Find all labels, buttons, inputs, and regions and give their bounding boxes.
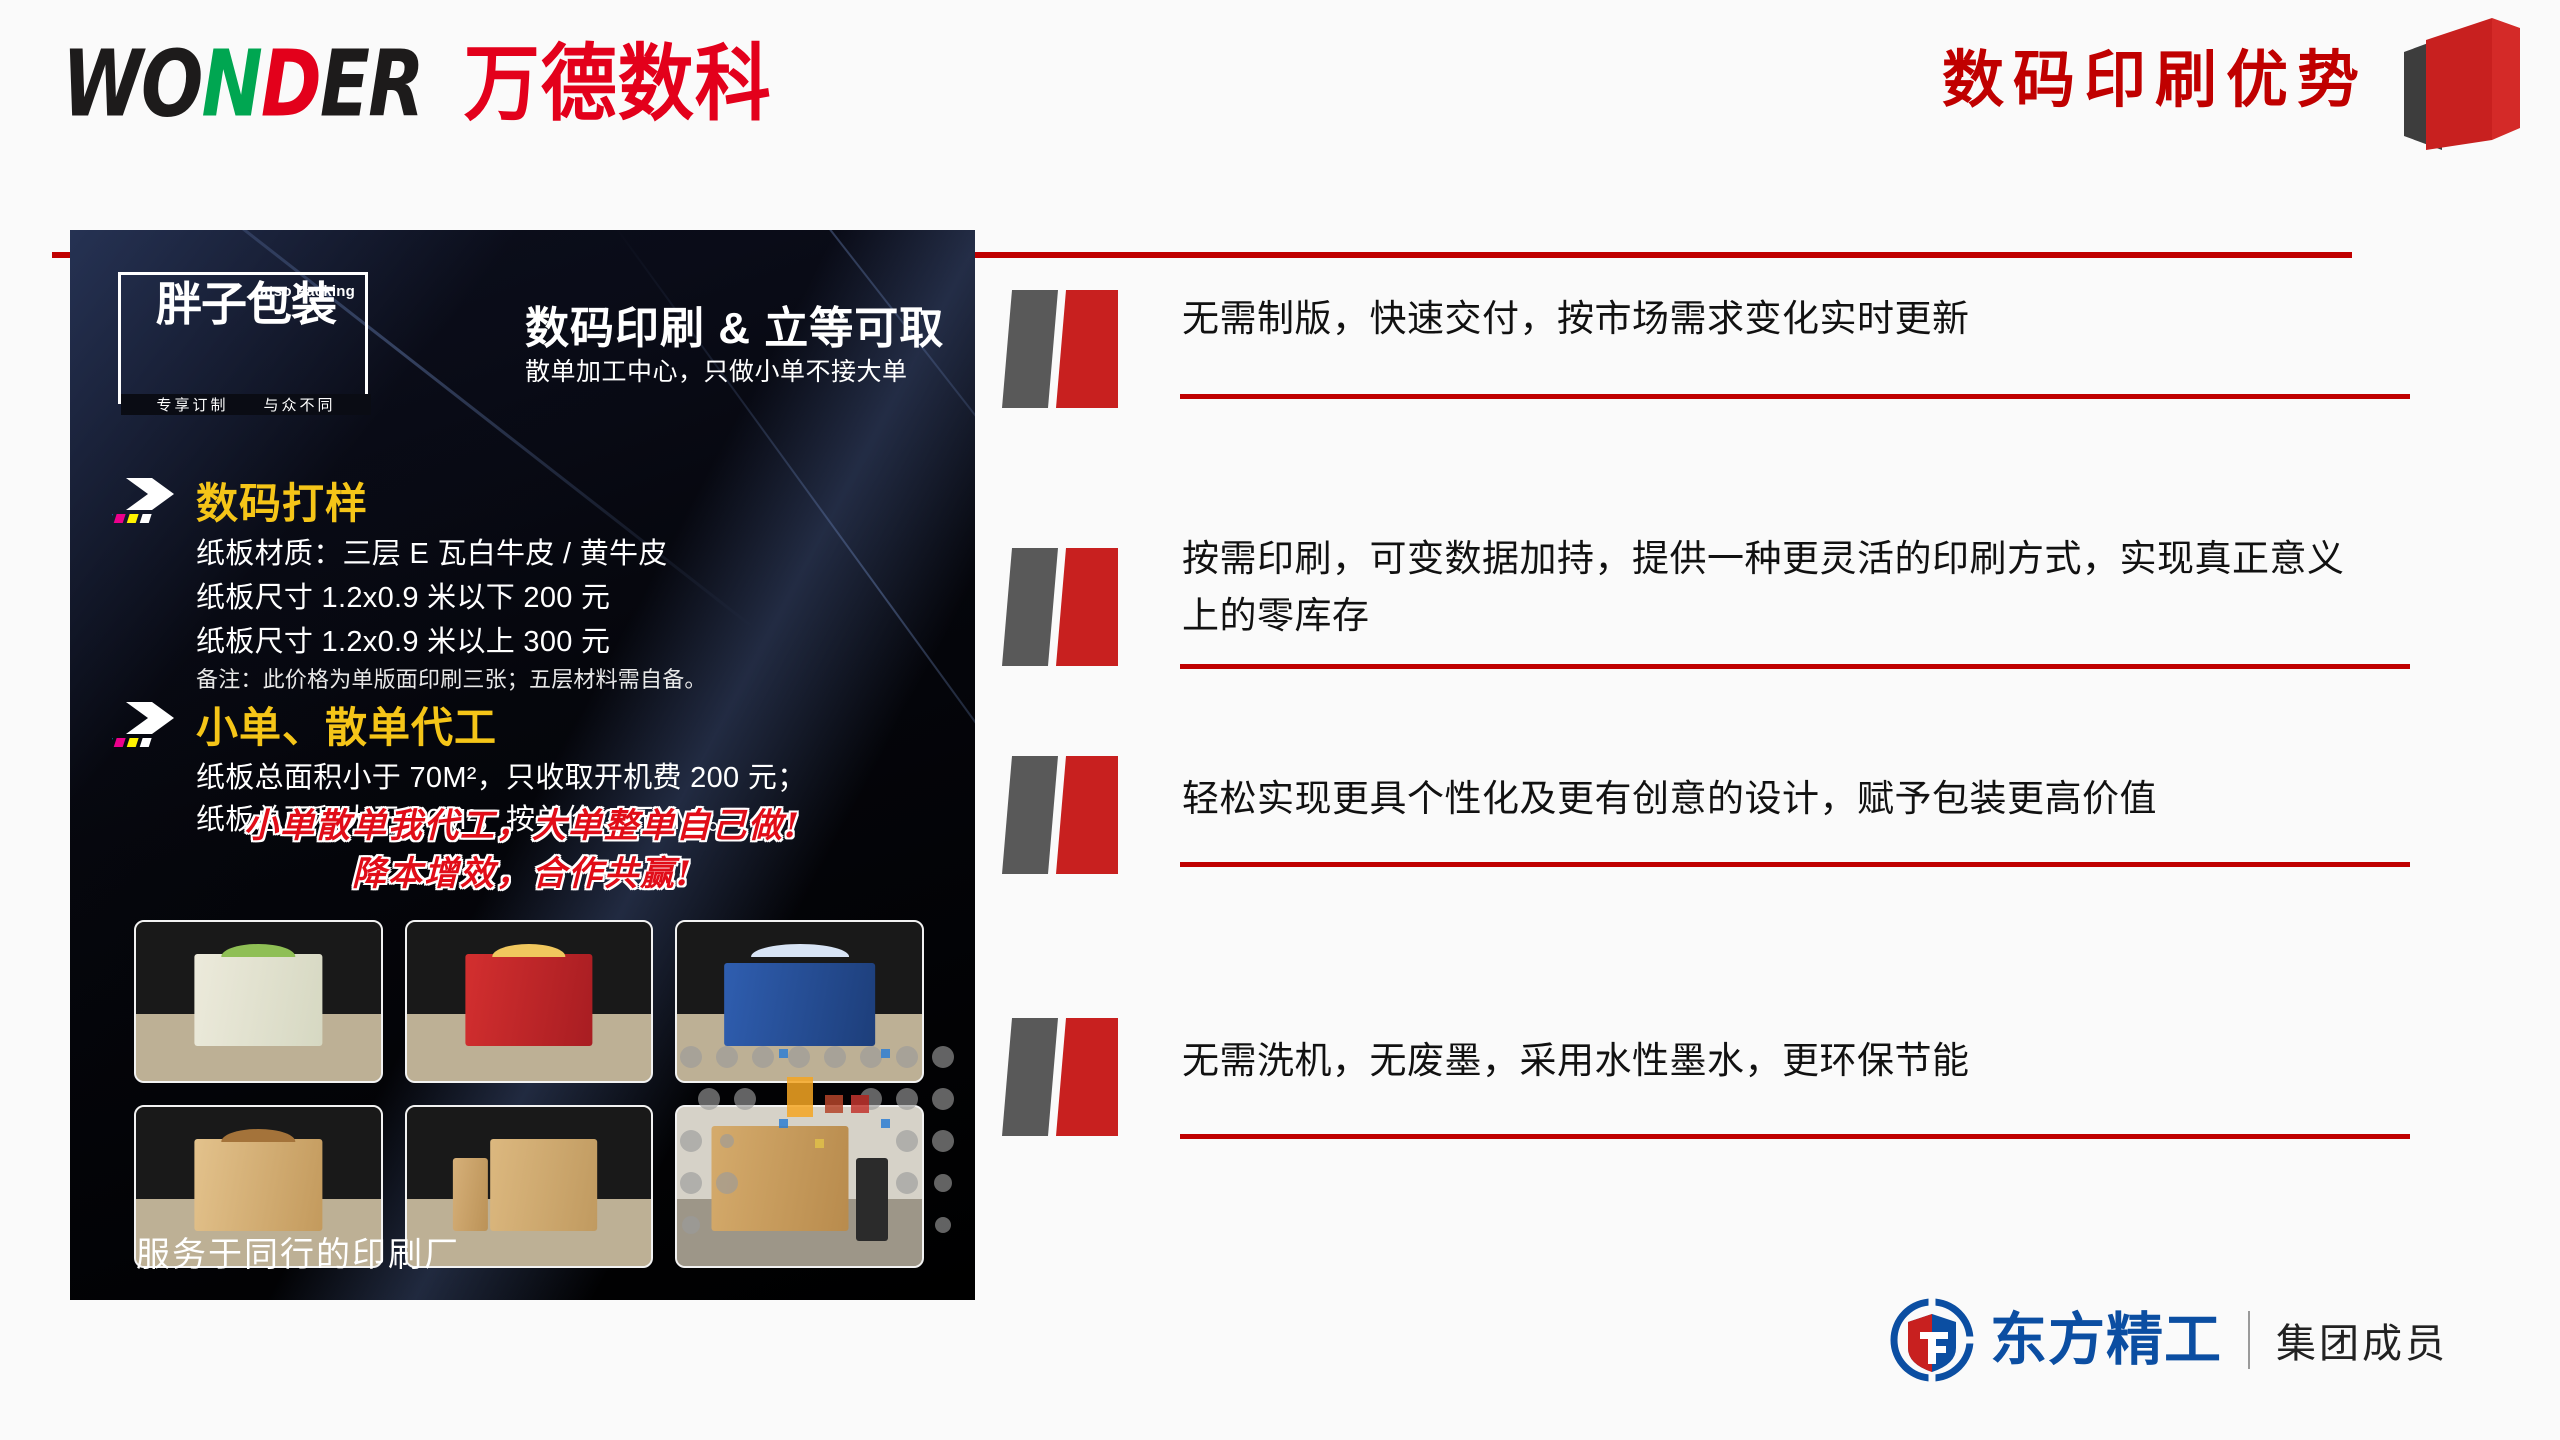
- slogan-line-2: 降本增效，合作共赢!: [70, 850, 975, 898]
- poster-footer-text: 服务于同行的印刷厂: [136, 1227, 460, 1276]
- dongfang-shield-icon: [1890, 1298, 1974, 1382]
- dot-pattern-decoration: [675, 1043, 975, 1258]
- section-title-digital-proofing: 数码打样: [196, 470, 368, 531]
- list-item: 无需洗机，无废墨，采用水性墨水，更环保节能: [1000, 992, 2420, 1232]
- poster-slogan: 小单散单我代工，大单整单自己做! 降本增效，合作共赢!: [70, 802, 975, 899]
- section-line: 纸板尺寸 1.2x0.9 米以上 300 元: [196, 618, 610, 660]
- wonder-letters-wo: WO: [62, 32, 201, 138]
- brand-chinese-name: 万德数科: [464, 43, 772, 127]
- double-chevron-icon: [1000, 540, 1150, 675]
- list-item-text: 轻松实现更具个性化及更有创意的设计，赋予包装更高价值: [1182, 770, 2372, 827]
- corner-ribbon-decoration: [2396, 0, 2528, 150]
- corp-logo-divider: [2248, 1311, 2250, 1369]
- corp-name-text: 东方精工: [1990, 1312, 2222, 1369]
- marketing-poster: 胖子包装 fatso Packing 专享订制 与众不同 数码印刷 & 立等可取…: [70, 230, 975, 1300]
- corporate-logo: 东方精工 集团成员: [1890, 1298, 2448, 1382]
- list-item-underline: [1180, 394, 2410, 399]
- section-line: 纸板总面积小于 70M²，只收取开机费 200 元；: [196, 754, 806, 796]
- section-note: 备注：此价格为单版面印刷三张；五层材料需自备。: [196, 662, 707, 694]
- section-line: 纸板材质：三层 E 瓦白牛皮 / 黄牛皮: [196, 530, 668, 572]
- slogan-line-1: 小单散单我代工，大单整单自己做!: [70, 802, 975, 850]
- wonder-letters-er: ER: [320, 32, 423, 138]
- list-item: 无需制版，快速交付，按市场需求变化实时更新: [1000, 272, 2420, 512]
- double-chevron-icon: [1000, 748, 1150, 883]
- chevron-arrow-icon: [112, 476, 184, 532]
- corp-membership-text: 集团成员: [2276, 1311, 2448, 1369]
- wonder-letter-n-green: N: [201, 32, 260, 138]
- chevron-arrow-icon: [112, 700, 184, 756]
- list-item-underline: [1180, 862, 2410, 867]
- advantages-list: 无需制版，快速交付，按市场需求变化实时更新 按需印刷，可变数据加持，提供一种更灵…: [1000, 272, 2420, 1232]
- list-item-text: 按需印刷，可变数据加持，提供一种更灵活的印刷方式，实现真正意义上的零库存: [1182, 530, 2372, 645]
- list-item-underline: [1180, 1134, 2410, 1139]
- product-photo: [405, 920, 654, 1083]
- fatso-tagline-right: 与众不同: [263, 397, 335, 414]
- page-title: 数码印刷优势: [1942, 44, 2368, 118]
- section-line: 纸板尺寸 1.2x0.9 米以下 200 元: [196, 574, 610, 616]
- list-item-text: 无需洗机，无废墨，采用水性墨水，更环保节能: [1182, 1032, 2372, 1089]
- list-item-underline: [1180, 664, 2410, 669]
- wonder-brand-logo: WONDER 万德数科: [62, 42, 772, 128]
- fatso-logo-tagline: 专享订制 与众不同: [121, 394, 371, 415]
- poster-subheadline: 散单加工中心，只做小单不接大单: [525, 352, 908, 388]
- double-chevron-icon: [1000, 1010, 1150, 1145]
- wonder-wordmark: WONDER: [62, 39, 423, 131]
- section-title-small-order-oem: 小单、散单代工: [196, 694, 497, 755]
- double-chevron-icon: [1000, 282, 1150, 417]
- wonder-letter-d-red: D: [261, 32, 320, 138]
- list-item-text: 无需制版，快速交付，按市场需求变化实时更新: [1182, 290, 2372, 347]
- fatso-tagline-left: 专享订制: [157, 397, 229, 414]
- fatso-packing-logo: 胖子包装 fatso Packing 专享订制 与众不同: [118, 272, 368, 404]
- product-photo: [134, 920, 383, 1083]
- slide-header: WONDER 万德数科 数码印刷优势: [0, 0, 2560, 200]
- fatso-logo-english: fatso Packing: [255, 283, 355, 300]
- list-item: 轻松实现更具个性化及更有创意的设计，赋予包装更高价值: [1000, 752, 2420, 992]
- list-item: 按需印刷，可变数据加持，提供一种更灵活的印刷方式，实现真正意义上的零库存: [1000, 512, 2420, 752]
- poster-headline: 数码印刷 & 立等可取: [525, 292, 944, 356]
